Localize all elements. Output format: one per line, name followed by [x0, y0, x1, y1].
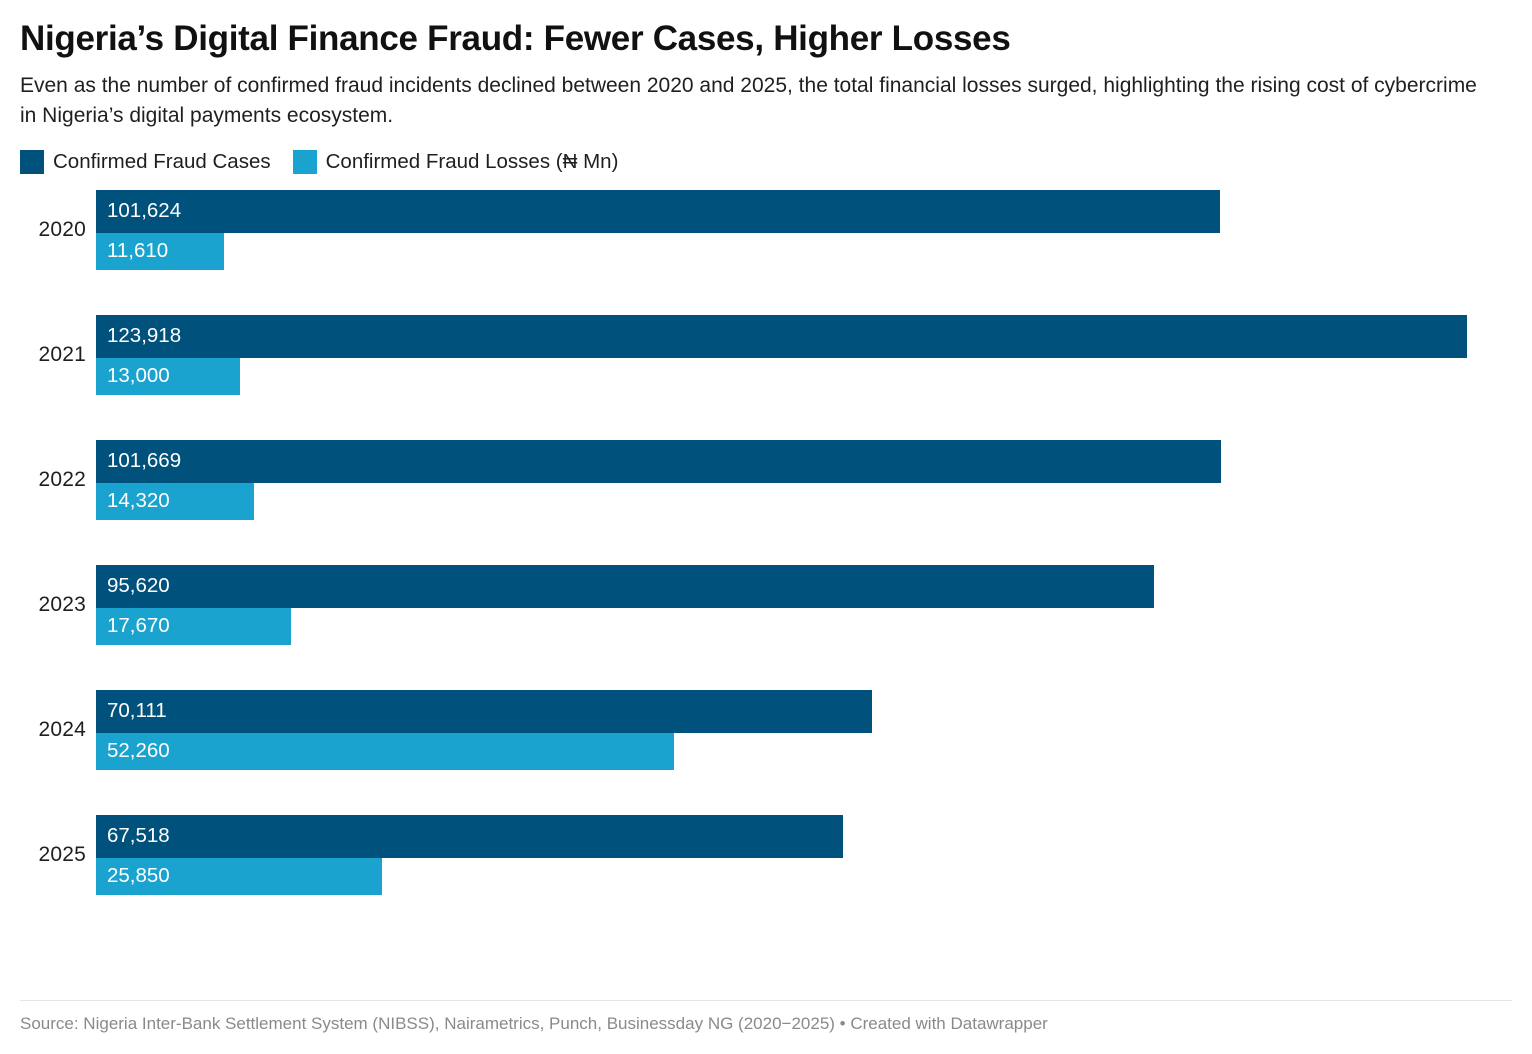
- chart-source-footer: Source: Nigeria Inter-Bank Settlement Sy…: [20, 1000, 1512, 1034]
- bar-value-label: 123,918: [96, 326, 181, 347]
- chart-subtitle: Even as the number of confirmed fraud in…: [20, 59, 1490, 130]
- bar-pair: 67,51825,850: [96, 815, 1512, 895]
- bar-value-label: 17,670: [96, 616, 170, 637]
- bar-pair: 123,91813,000: [96, 315, 1512, 395]
- bar-losses-2025[interactable]: 25,850: [96, 858, 382, 895]
- legend-item-1[interactable]: Confirmed Fraud Losses (₦ Mn): [293, 150, 619, 174]
- bar-cases-2021[interactable]: 123,918: [96, 315, 1467, 358]
- bar-cases-2022[interactable]: 101,669: [96, 440, 1221, 483]
- bar-value-label: 25,850: [96, 866, 170, 887]
- bar-group-2020: 2020101,62411,610: [20, 190, 1512, 270]
- legend-item-label: Confirmed Fraud Losses (₦ Mn): [326, 152, 619, 173]
- legend-item-label: Confirmed Fraud Cases: [53, 152, 271, 173]
- category-label: 2020: [20, 190, 86, 270]
- bar-value-label: 67,518: [96, 826, 170, 847]
- chart-legend: Confirmed Fraud CasesConfirmed Fraud Los…: [20, 148, 1512, 176]
- page-title: Nigeria’s Digital Finance Fraud: Fewer C…: [20, 0, 1512, 59]
- bar-value-label: 13,000: [96, 366, 170, 387]
- legend-swatch-icon: [20, 150, 44, 174]
- category-label: 2024: [20, 690, 86, 770]
- legend-item-0[interactable]: Confirmed Fraud Cases: [20, 150, 271, 174]
- bar-value-label: 11,610: [96, 241, 168, 262]
- chart-container: Nigeria’s Digital Finance Fraud: Fewer C…: [0, 0, 1532, 1054]
- category-label: 2022: [20, 440, 86, 520]
- bar-pair: 101,62411,610: [96, 190, 1512, 270]
- bar-losses-2020[interactable]: 11,610: [96, 233, 224, 270]
- bar-pair: 101,66914,320: [96, 440, 1512, 520]
- bar-value-label: 14,320: [96, 491, 170, 512]
- bar-group-2021: 2021123,91813,000: [20, 315, 1512, 395]
- category-label: 2025: [20, 815, 86, 895]
- category-label: 2021: [20, 315, 86, 395]
- bar-losses-2021[interactable]: 13,000: [96, 358, 240, 395]
- legend-swatch-icon: [293, 150, 317, 174]
- bar-group-2024: 202470,11152,260: [20, 690, 1512, 770]
- bar-cases-2020[interactable]: 101,624: [96, 190, 1220, 233]
- chart-plot-area: 2020101,62411,6102021123,91813,000202210…: [20, 190, 1512, 938]
- bar-losses-2022[interactable]: 14,320: [96, 483, 254, 520]
- bar-losses-2023[interactable]: 17,670: [96, 608, 291, 645]
- bar-group-2025: 202567,51825,850: [20, 815, 1512, 895]
- bar-group-2022: 2022101,66914,320: [20, 440, 1512, 520]
- bar-value-label: 70,111: [96, 701, 167, 722]
- bar-value-label: 52,260: [96, 741, 170, 762]
- bar-value-label: 101,669: [96, 451, 181, 472]
- bar-value-label: 101,624: [96, 201, 181, 222]
- bar-pair: 70,11152,260: [96, 690, 1512, 770]
- bar-pair: 95,62017,670: [96, 565, 1512, 645]
- bar-cases-2024[interactable]: 70,111: [96, 690, 872, 733]
- bar-cases-2023[interactable]: 95,620: [96, 565, 1154, 608]
- bar-cases-2025[interactable]: 67,518: [96, 815, 843, 858]
- category-label: 2023: [20, 565, 86, 645]
- bar-group-2023: 202395,62017,670: [20, 565, 1512, 645]
- bar-value-label: 95,620: [96, 576, 170, 597]
- bar-losses-2024[interactable]: 52,260: [96, 733, 674, 770]
